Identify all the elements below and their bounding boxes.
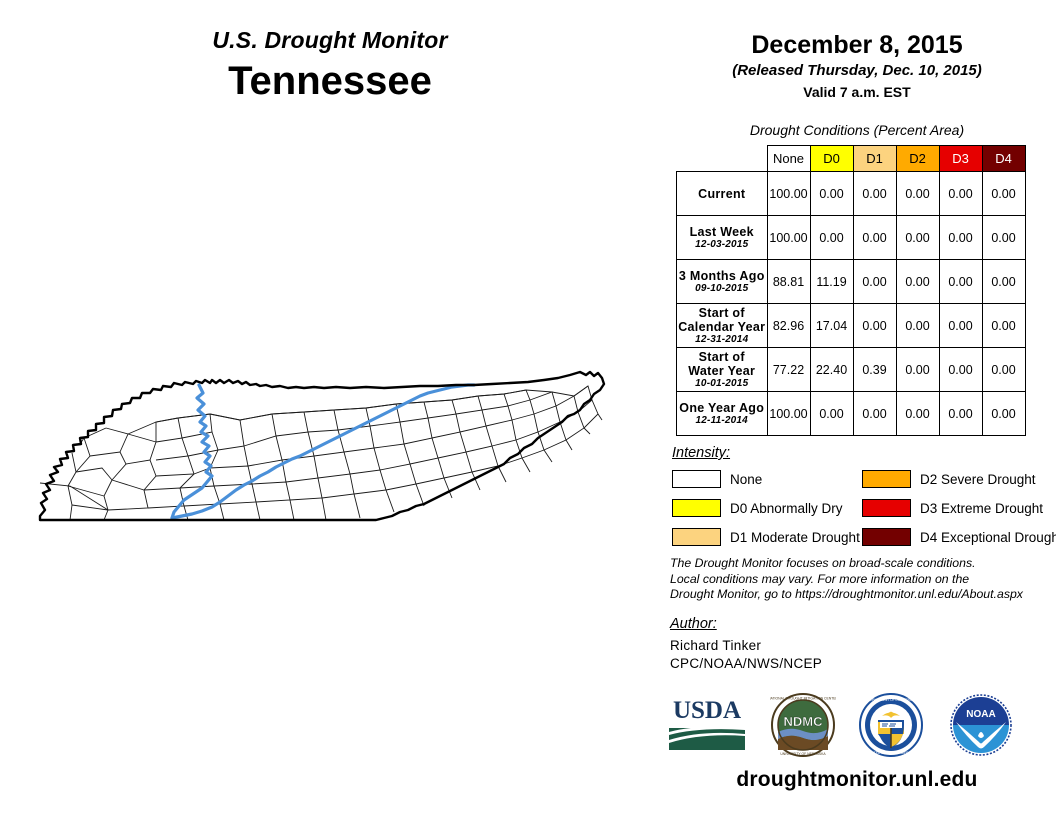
commerce-seal-logo[interactable]: DEPARTMENT OF COMMERCE UNITED STATES OF … [858,692,924,758]
author-name: Richard Tinker [670,637,822,655]
disclaimer-line-1: The Drought Monitor focuses on broad-sca… [670,556,1050,572]
noaa-logo[interactable]: NOAA [948,692,1014,758]
legend-label-d3: D3 Extreme Drought [920,501,1043,516]
cell-caly-d4: 0.00 [982,304,1025,348]
disclaimer-line-2: Local conditions may vary. For more info… [670,572,1050,588]
valid-time: Valid 7 a.m. EST [666,82,1048,102]
row-label-text: One Year Ago [677,401,767,415]
date-block: December 8, 2015 (Released Thursday, Dec… [666,30,1048,102]
row-label-start-water-year: Start of Water Year 10-01-2015 [677,348,768,392]
column-header-d0: D0 [810,146,853,172]
row-label-one-year-ago: One Year Ago 12-11-2014 [677,392,768,436]
row-label-date: 09-10-2015 [677,283,767,295]
cell-1yr-d4: 0.00 [982,392,1025,436]
legend-item-none: None [672,466,860,492]
commerce-seal-svg: DEPARTMENT OF COMMERCE UNITED STATES OF … [858,692,924,758]
cell-lastweek-d2: 0.00 [896,216,939,260]
row-label-3-months-ago: 3 Months Ago 09-10-2015 [677,260,768,304]
table-header-row: None D0 D1 D2 D3 D4 [677,146,1026,172]
row-label-text-line2: Water Year [677,364,767,378]
usda-logo[interactable]: USDA [665,692,749,754]
legend-label-d4: D4 Exceptional Drought [920,530,1056,545]
row-label-current: Current [677,172,768,216]
cell-3mo-d0: 11.19 [810,260,853,304]
release-date: (Released Thursday, Dec. 10, 2015) [666,60,1048,82]
disclaimer-text: The Drought Monitor focuses on broad-sca… [670,556,1050,603]
swatch-d1-icon [672,528,721,546]
cell-lastweek-d3: 0.00 [939,216,982,260]
cell-current-none: 100.00 [767,172,810,216]
svg-text:NATIONAL DROUGHT MITIGATION CE: NATIONAL DROUGHT MITIGATION CENTER [770,697,836,701]
legend-label-d0: D0 Abnormally Dry [730,501,843,516]
cell-3mo-d1: 0.00 [853,260,896,304]
svg-text:DEPARTMENT OF COMMERCE: DEPARTMENT OF COMMERCE [868,698,915,702]
noaa-logo-text: NOAA [966,709,995,720]
cell-3mo-d3: 0.00 [939,260,982,304]
swatch-none-icon [672,470,721,488]
column-header-d3: D3 [939,146,982,172]
footer-url[interactable]: droughtmonitor.unl.edu [666,768,1048,792]
disclaimer-line-3: Drought Monitor, go to https://droughtmo… [670,587,1050,603]
legend-item-d3: D3 Extreme Drought [862,495,1056,521]
column-header-d2: D2 [896,146,939,172]
cell-current-d4: 0.00 [982,172,1025,216]
author-affiliation: CPC/NOAA/NWS/NCEP [670,655,822,673]
usda-logo-text: USDA [673,697,741,724]
cell-3mo-none: 88.81 [767,260,810,304]
cell-caly-d2: 0.00 [896,304,939,348]
row-label-start-calendar-year: Start of Calendar Year 12-31-2014 [677,304,768,348]
usda-logo-svg: USDA [665,692,749,754]
logo-row: USDA NDMC NATIONAL DROUGHT MITIGATION CE… [660,692,1050,762]
cell-3mo-d4: 0.00 [982,260,1025,304]
legend-item-d0: D0 Abnormally Dry [672,495,860,521]
table-row: One Year Ago 12-11-2014 100.00 0.00 0.00… [677,392,1026,436]
row-label-date: 12-31-2014 [677,334,767,346]
program-title: U.S. Drought Monitor [0,26,660,54]
table-caption: Drought Conditions (Percent Area) [666,122,1048,138]
row-label-date: 10-01-2015 [677,378,767,390]
legend-label-d1: D1 Moderate Drought [730,530,860,545]
row-label-date: 12-03-2015 [677,239,767,251]
cell-watery-d4: 0.00 [982,348,1025,392]
map-title-block: U.S. Drought Monitor Tennessee [0,26,660,106]
table-row: Current 100.00 0.00 0.00 0.00 0.00 0.00 [677,172,1026,216]
column-header-d1: D1 [853,146,896,172]
cell-caly-d3: 0.00 [939,304,982,348]
legend-item-d2: D2 Severe Drought [862,466,1056,492]
cell-lastweek-d4: 0.00 [982,216,1025,260]
cell-lastweek-d0: 0.00 [810,216,853,260]
row-label-date: 12-11-2014 [677,415,767,427]
ndmc-logo-svg: NDMC NATIONAL DROUGHT MITIGATION CENTER … [770,692,836,758]
swatch-d0-icon [672,499,721,517]
noaa-logo-svg: NOAA [948,692,1014,758]
valid-date: December 8, 2015 [666,30,1048,60]
legend-column-left: None D0 Abnormally Dry D1 Moderate Droug… [672,466,860,553]
table-row: Last Week 12-03-2015 100.00 0.00 0.00 0.… [677,216,1026,260]
column-header-d4: D4 [982,146,1025,172]
row-label-text: 3 Months Ago [677,269,767,283]
cell-watery-d3: 0.00 [939,348,982,392]
legend-label-d2: D2 Severe Drought [920,472,1036,487]
intensity-legend-title: Intensity: [672,445,730,461]
cell-current-d2: 0.00 [896,172,939,216]
map-svg [24,360,644,550]
table-row: Start of Calendar Year 12-31-2014 82.96 … [677,304,1026,348]
column-header-none: None [767,146,810,172]
cell-current-d0: 0.00 [810,172,853,216]
cell-watery-d0: 22.40 [810,348,853,392]
row-label-text: Current [677,187,767,201]
cell-current-d1: 0.00 [853,172,896,216]
ndmc-logo-text: NDMC [784,714,824,729]
cell-caly-d1: 0.00 [853,304,896,348]
table-row: 3 Months Ago 09-10-2015 88.81 11.19 0.00… [677,260,1026,304]
cell-1yr-d1: 0.00 [853,392,896,436]
row-label-text-line2: Calendar Year [677,320,767,334]
table-row: Start of Water Year 10-01-2015 77.22 22.… [677,348,1026,392]
ndmc-logo[interactable]: NDMC NATIONAL DROUGHT MITIGATION CENTER … [770,692,836,758]
legend-column-right: D2 Severe Drought D3 Extreme Drought D4 … [862,466,1056,553]
swatch-d2-icon [862,470,911,488]
cell-watery-d1: 0.39 [853,348,896,392]
row-label-last-week: Last Week 12-03-2015 [677,216,768,260]
cell-1yr-d3: 0.00 [939,392,982,436]
swatch-d4-icon [862,528,911,546]
tennessee-drought-map[interactable] [24,360,644,550]
legend-label-none: None [730,472,762,487]
cell-1yr-none: 100.00 [767,392,810,436]
svg-text:UNIVERSITY OF NEBRASKA: UNIVERSITY OF NEBRASKA [780,752,826,756]
author-block: Richard Tinker CPC/NOAA/NWS/NCEP [670,637,822,673]
cell-watery-none: 77.22 [767,348,810,392]
cell-lastweek-none: 100.00 [767,216,810,260]
cell-3mo-d2: 0.00 [896,260,939,304]
cell-caly-none: 82.96 [767,304,810,348]
row-label-text: Last Week [677,225,767,239]
row-label-text-line1: Start of [677,306,767,320]
cell-lastweek-d1: 0.00 [853,216,896,260]
swatch-d3-icon [862,499,911,517]
state-title: Tennessee [0,56,660,106]
cell-1yr-d2: 0.00 [896,392,939,436]
row-label-text-line1: Start of [677,350,767,364]
header-spacer [677,146,768,172]
cell-current-d3: 0.00 [939,172,982,216]
cell-watery-d2: 0.00 [896,348,939,392]
svg-text:UNITED STATES OF AMERICA: UNITED STATES OF AMERICA [868,751,914,755]
author-heading: Author: [670,616,717,632]
cell-1yr-d0: 0.00 [810,392,853,436]
cell-caly-d0: 17.04 [810,304,853,348]
legend-item-d4: D4 Exceptional Drought [862,524,1056,550]
drought-conditions-table: None D0 D1 D2 D3 D4 Current 100.00 0.00 … [676,145,1026,436]
legend-item-d1: D1 Moderate Drought [672,524,860,550]
